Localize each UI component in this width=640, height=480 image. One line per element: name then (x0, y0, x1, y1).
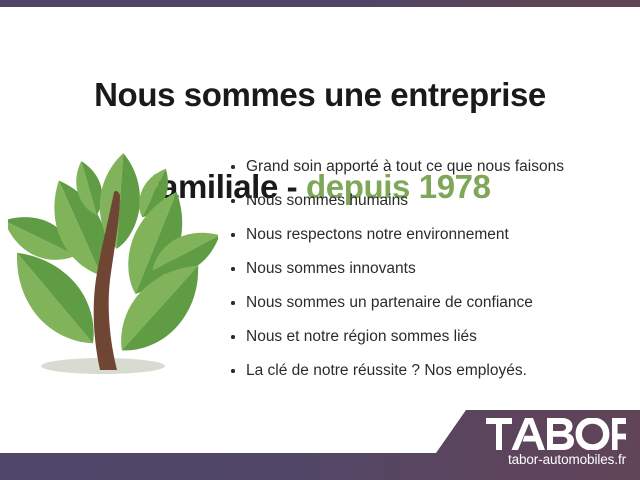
list-item: Nous sommes un partenaire de confiance (228, 286, 628, 320)
list-item: Grand soin apporté à tout ce que nous fa… (228, 150, 628, 184)
brand-logo[interactable]: tabor-automobiles.fr (486, 418, 626, 467)
bullet-dot-icon (231, 267, 235, 271)
list-item: Nous et notre région sommes liés (228, 320, 628, 354)
list-item: Nous respectons notre environnement (228, 218, 628, 252)
bullet-dot-icon (231, 335, 235, 339)
tree-icon (8, 148, 218, 393)
list-item: Nous sommes humains (228, 184, 628, 218)
tree-illustration (8, 148, 218, 393)
benefits-list: Grand soin apporté à tout ce que nous fa… (228, 150, 628, 388)
list-item-label: Nous et notre région sommes liés (246, 328, 477, 345)
bullet-dot-icon (231, 199, 235, 203)
top-accent-bar (0, 0, 640, 7)
brand-wordmark (486, 418, 626, 448)
slide-canvas: Nous sommes une entreprise familiale - d… (0, 0, 640, 480)
list-item-label: La clé de notre réussite ? Nos employés. (246, 362, 527, 379)
bullet-dot-icon (231, 369, 235, 373)
bullet-dot-icon (231, 165, 235, 169)
brand-url[interactable]: tabor-automobiles.fr (486, 453, 626, 467)
list-item-label: Grand soin apporté à tout ce que nous fa… (246, 158, 564, 175)
list-item-label: Nous sommes humains (246, 192, 408, 209)
list-item: La clé de notre réussite ? Nos employés. (228, 354, 628, 388)
list-item-label: Nous respectons notre environnement (246, 226, 509, 243)
list-item: Nous sommes innovants (228, 252, 628, 286)
tabor-wordmark-icon (486, 418, 626, 450)
bullet-dot-icon (231, 233, 235, 237)
list-item-label: Nous sommes un partenaire de confiance (246, 294, 533, 311)
page-title-line-1: Nous sommes une entreprise (0, 72, 640, 118)
bullet-dot-icon (231, 301, 235, 305)
list-item-label: Nous sommes innovants (246, 260, 416, 277)
